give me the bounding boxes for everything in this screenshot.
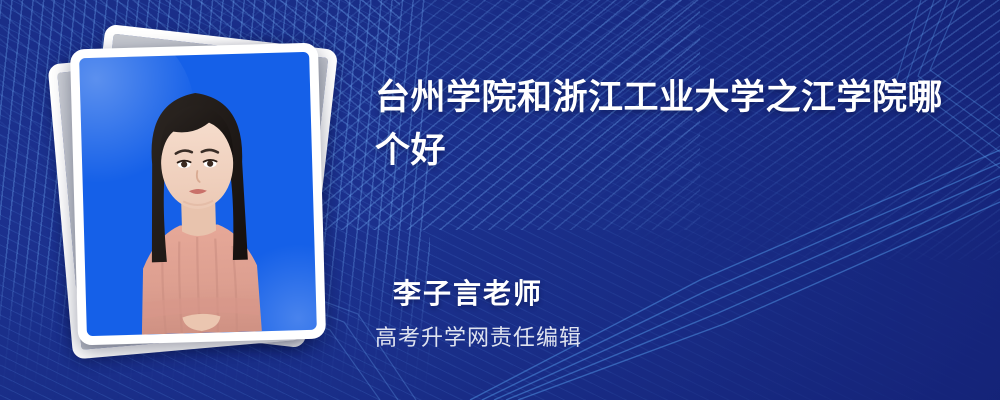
page-title: 台州学院和浙江工业大学之江学院哪个好 [375, 72, 955, 178]
article-header-banner: 台州学院和浙江工业大学之江学院哪个好 李子言老师 高考升学网责任编辑 [0, 0, 1000, 400]
editor-photo-frame[interactable] [70, 43, 326, 346]
editor-photo-stack [52, 30, 342, 360]
banner-text-block: 台州学院和浙江工业大学之江学院哪个好 李子言老师 高考升学网责任编辑 [375, 0, 975, 400]
portrait-illustration [79, 52, 317, 336]
author-role: 高考升学网责任编辑 [375, 320, 582, 352]
author-name: 李子言老师 [393, 272, 543, 312]
portrait-photo-icon [79, 52, 317, 336]
